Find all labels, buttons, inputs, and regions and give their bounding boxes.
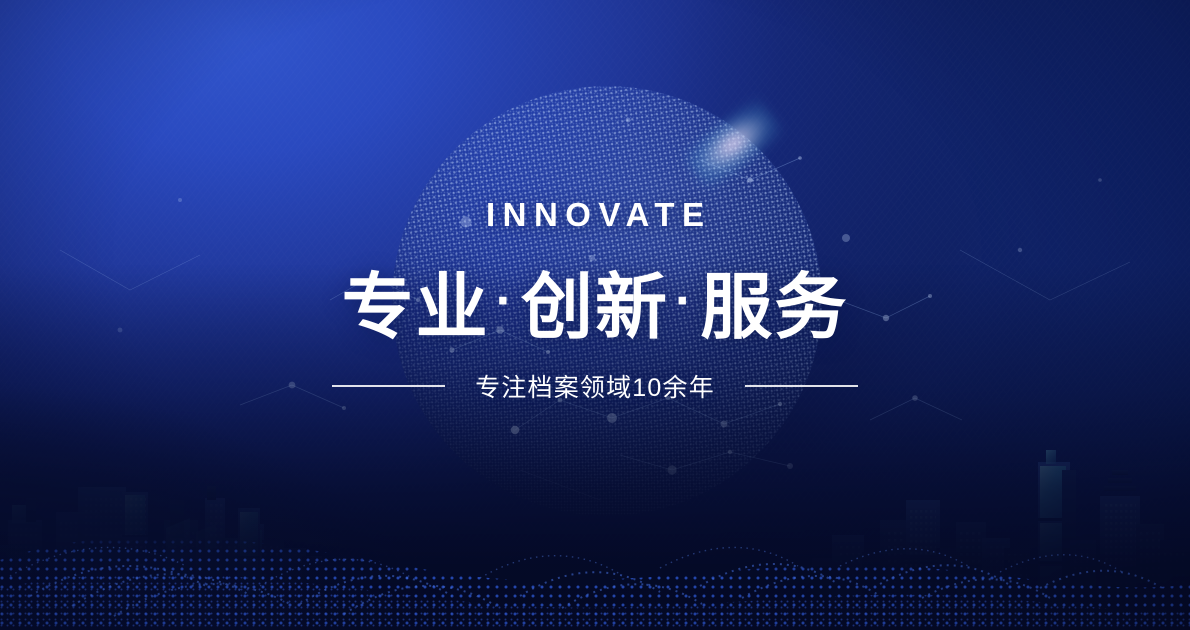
divider-right — [745, 385, 858, 386]
page-title: 专业·创新·服务 — [0, 248, 1190, 353]
headline-separator-2: · — [669, 272, 700, 330]
headline-word-1: 专业 — [342, 268, 490, 348]
headline-word-3: 服务 — [700, 268, 848, 348]
headline-word-2: 创新 — [521, 268, 669, 348]
divider-left — [332, 385, 445, 386]
headline-separator-1: · — [490, 272, 521, 330]
eyebrow-text: INNOVATE — [0, 196, 1190, 234]
hero-banner: INNOVATE 专业·创新·服务 专注档案领域10余年 — [0, 0, 1190, 630]
subtitle-text: 专注档案领域10余年 — [475, 368, 715, 404]
subtitle-row: 专注档案领域10余年 — [0, 368, 1190, 404]
